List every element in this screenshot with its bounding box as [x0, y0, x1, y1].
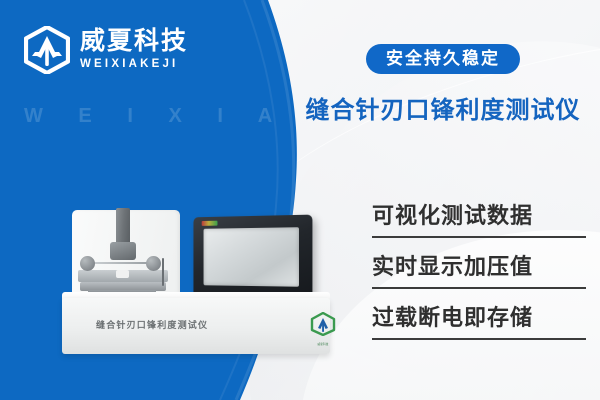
hexagon-shield-logo-icon: [24, 26, 70, 74]
adjust-knob-right: [146, 256, 161, 271]
machine-brand-logo: 威夏科技: [310, 312, 336, 342]
hmi-touchscreen[interactable]: [193, 215, 312, 302]
product-photo: 缝合针刃口锋利度测试仪 威夏科技: [62, 206, 352, 366]
column-head-clamp: [110, 242, 136, 260]
machine-logo-subtext: 威夏科技: [310, 342, 336, 346]
status-led-strip-icon: [202, 221, 218, 226]
tagline-badge: 安全持久稳定: [366, 44, 520, 74]
sensor-cable: [162, 258, 164, 286]
list-item: 可视化测试数据: [372, 198, 586, 238]
list-item: 过载断电即存储: [372, 300, 586, 340]
brand-logo: 威夏科技 WEIXIAKEJI: [24, 26, 188, 74]
feature-label: 过载断电即存储: [372, 300, 586, 332]
feature-list: 可视化测试数据 实时显示加压值 过载断电即存储: [372, 198, 586, 351]
needle-holder-bar: [86, 262, 148, 264]
brand-name-cn: 威夏科技: [80, 29, 188, 54]
brand-name-en: WEIXIAKEJI: [80, 59, 188, 71]
machine-base-label: 缝合针刃口锋利度测试仪: [96, 318, 208, 331]
green-hexagon-logo-icon: [310, 312, 336, 336]
adjust-knob-left: [80, 256, 95, 271]
product-banner: 威夏科技 WEIXIAKEJI W E I X I A K E 安全持久稳定 缝…: [0, 0, 600, 400]
screen-display-area[interactable]: [204, 227, 299, 287]
brand-logo-text: 威夏科技 WEIXIAKEJI: [80, 29, 188, 71]
list-item: 实时显示加压值: [372, 249, 586, 289]
feature-label: 实时显示加压值: [372, 249, 586, 281]
headline-block: 安全持久稳定 缝合针刃口锋利度测试仪: [298, 44, 588, 125]
feature-label: 可视化测试数据: [372, 198, 586, 230]
sample-specimen: [116, 270, 129, 278]
product-title: 缝合针刃口锋利度测试仪: [298, 90, 588, 125]
